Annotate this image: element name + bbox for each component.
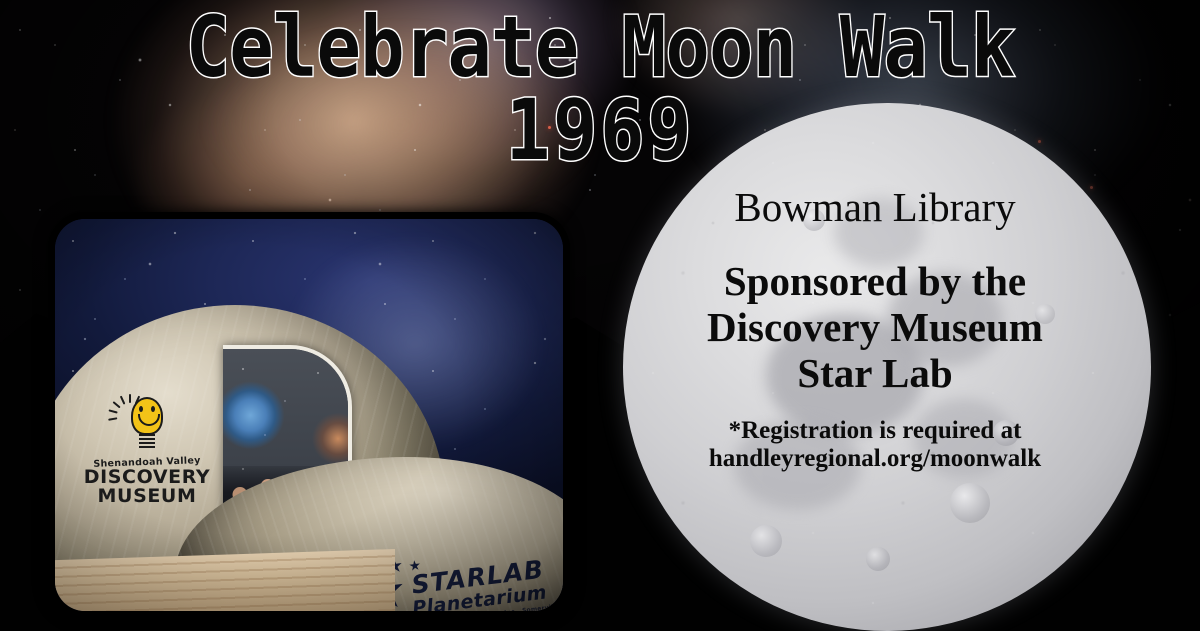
registration-note: *Registration is required at handleyregi… <box>660 417 1090 473</box>
registration-note-line-1: *Registration is required at <box>660 417 1090 445</box>
planetarium-photo: Shenandoah Valley DISCOVERY MUSEUM <box>55 219 563 611</box>
venue-name: Bowman Library <box>660 186 1090 229</box>
museum-logo-line-3: MUSEUM <box>77 487 217 506</box>
event-details-block: Bowman Library Sponsored by the Discover… <box>660 186 1090 473</box>
sponsor-block: Sponsored by the Discovery Museum Star L… <box>660 259 1090 397</box>
sponsor-line-1: Sponsored by the <box>660 259 1090 305</box>
sponsor-line-3: Star Lab <box>660 351 1090 397</box>
discovery-museum-logo: Shenandoah Valley DISCOVERY MUSEUM <box>77 397 217 507</box>
registration-url[interactable]: handleyregional.org/moonwalk <box>660 445 1090 473</box>
sponsor-line-2: Discovery Museum <box>660 305 1090 351</box>
moon-walk-poster: Celebrate Moon Walk 1969 Bowman Library … <box>0 0 1200 631</box>
lightbulb-icon <box>125 397 169 455</box>
